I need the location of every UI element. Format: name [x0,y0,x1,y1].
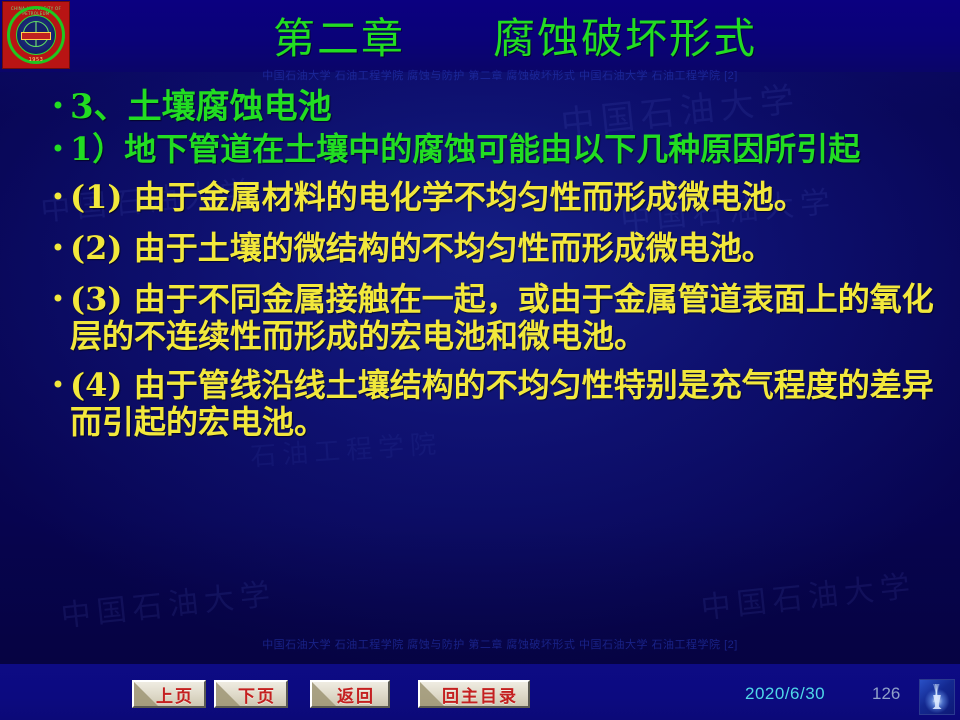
list-item: • (2) 由于土壤的微结构的不均匀性而形成微电池。 [46,230,936,267]
list-item: • (3) 由于不同金属接触在一起，或由于金属管道表面上的氧化层的不连续性而形成… [46,281,936,355]
logo-name-band [21,32,51,40]
list-item: • (4) 由于管线沿线土壤结构的不均匀性特别是充气程度的差异而引起的宏电池。 [46,367,936,441]
decorative-strip-top: 中国石油大学 石油工程学院 腐蚀与防护 第二章 腐蚀破坏形式 中国石油大学 石油… [60,69,940,84]
bullet-dot: • [46,281,70,312]
slide-body: • 3、土壤腐蚀电池 • 1）地下管道在土壤中的腐蚀可能由以下几种原因所引起 •… [46,88,936,628]
next-page-label: 下页 [226,682,276,707]
bullet-dot: • [46,88,70,119]
list-item-text: (4) 由于管线沿线土壤结构的不均匀性特别是充气程度的差异而引起的宏电池。 [70,367,936,441]
decorative-strip-bottom: 中国石油大学 石油工程学院 腐蚀与防护 第二章 腐蚀破坏形式 中国石油大学 石油… [60,638,940,653]
list-item-text: (1) 由于金属材料的电化学不均匀性而形成微电池。 [70,179,936,216]
list-item: • (1) 由于金属材料的电化学不均匀性而形成微电池。 [46,179,936,216]
list-item: • 3、土壤腐蚀电池 [46,88,936,127]
university-logo: CHINA UNIVERSITY OF PETROLEUM 1953 [2,1,70,69]
slide-page-number: 126 [872,684,900,704]
bullet-dot: • [46,179,70,210]
next-page-button[interactable]: 下页 [214,680,288,708]
bullet-dot: • [46,367,70,398]
prev-page-label: 上页 [144,682,194,707]
slide-title: 第二章 腐蚀破坏形式 [80,4,950,66]
prev-page-button[interactable]: 上页 [132,680,206,708]
main-menu-button[interactable]: 回主目录 [418,680,530,708]
slide-date: 2020/6/30 [745,684,825,704]
list-item-text: 1）地下管道在土壤中的腐蚀可能由以下几种原因所引起 [70,131,936,168]
logo-year: 1953 [3,57,69,63]
bullet-dot: • [46,131,70,162]
list-item-text: (2) 由于土壤的微结构的不均匀性而形成微电池。 [70,230,936,267]
bullet-dot: • [46,230,70,261]
back-label: 返回 [325,682,375,707]
trophy-icon [919,679,955,715]
list-item-text: 3、土壤腐蚀电池 [70,88,936,127]
main-menu-label: 回主目录 [430,682,518,707]
list-item: • 1）地下管道在土壤中的腐蚀可能由以下几种原因所引起 [46,131,936,168]
slide-canvas: 中国石油大学 中国石油大学 中国石油大学 中国石油大学 中国石油大学 石油工程学… [0,0,960,720]
back-button[interactable]: 返回 [310,680,390,708]
list-item-text: (3) 由于不同金属接触在一起，或由于金属管道表面上的氧化层的不连续性而形成的宏… [70,281,936,355]
